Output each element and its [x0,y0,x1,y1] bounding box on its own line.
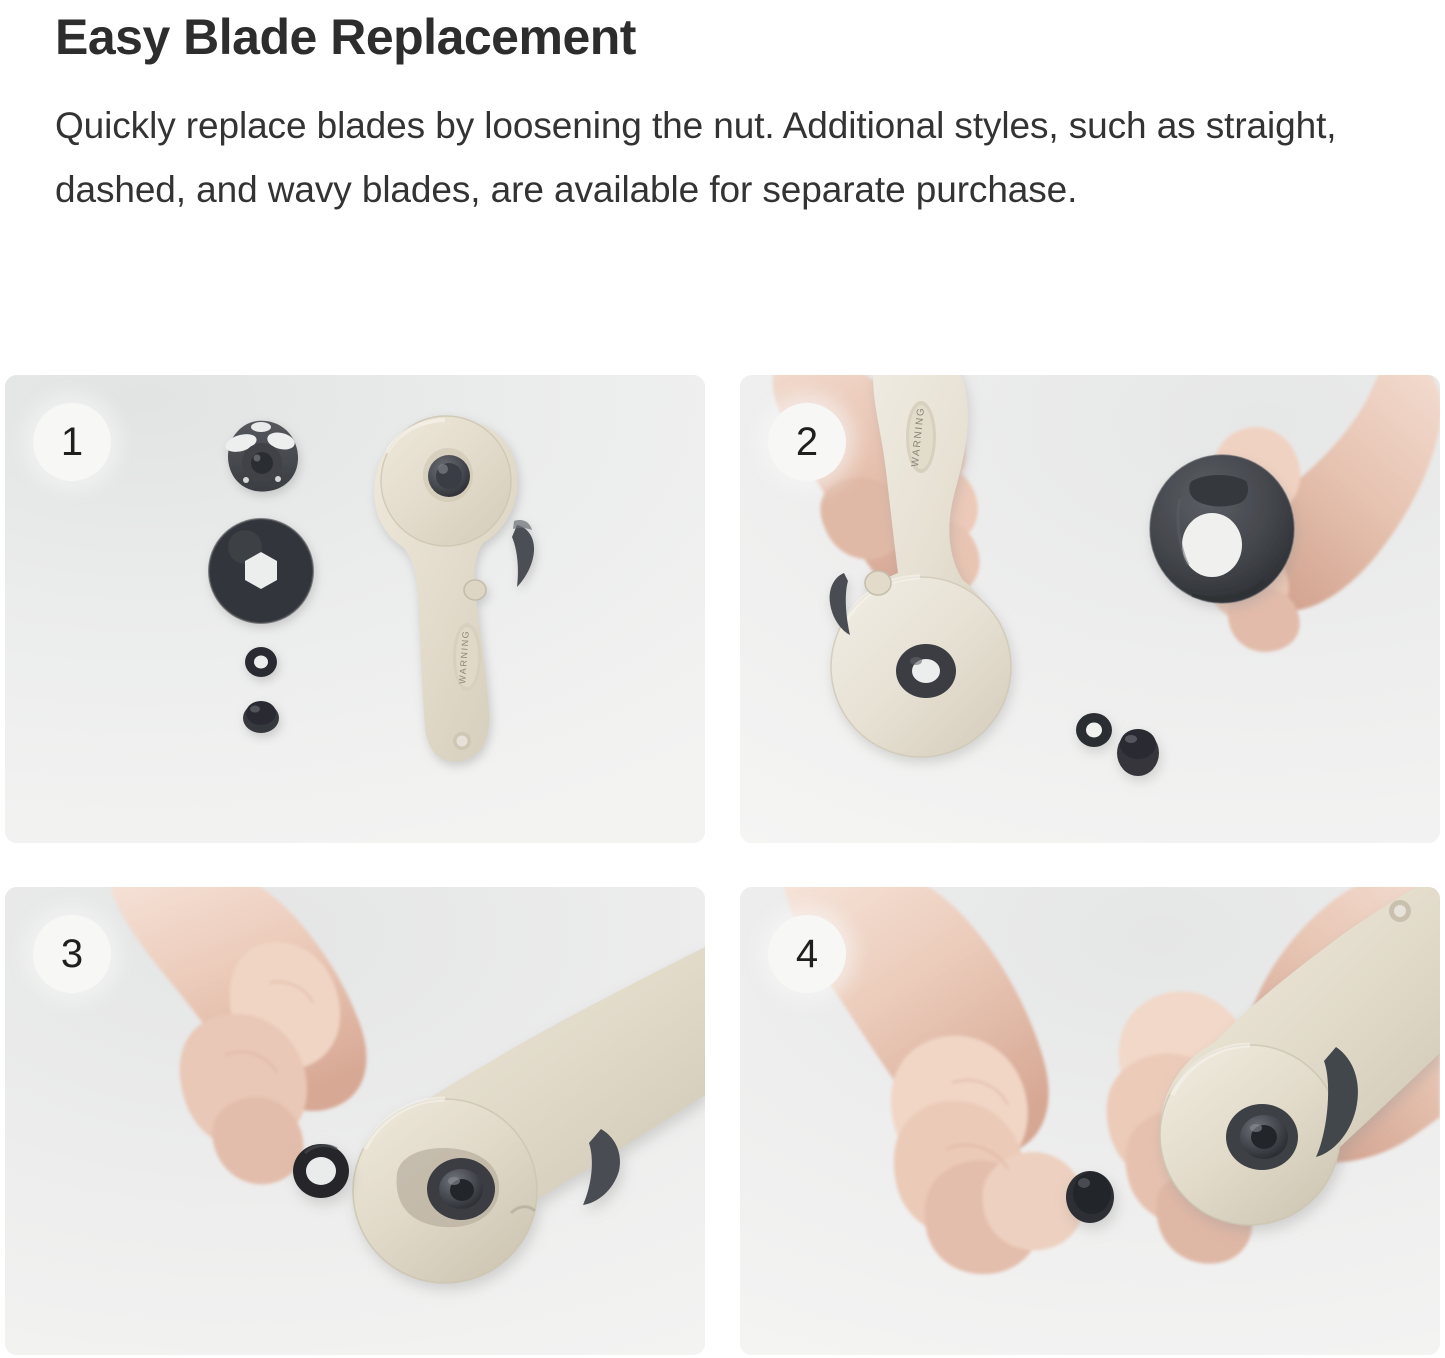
step-panel-2: WARNING [740,375,1440,843]
text-block: Easy Blade Replacement Quickly replace b… [55,0,1375,222]
product-infographic: Easy Blade Replacement Quickly replace b… [0,0,1445,1358]
rotary-blade-disc-icon [209,519,313,623]
rotary-cutter-body-icon: WARNING [374,416,534,762]
blade-cover-plate-icon [1150,455,1294,603]
page-description: Quickly replace blades by loosening the … [55,94,1355,222]
blade-cover-plate-icon [223,421,298,492]
rotary-cutter-body-icon [353,947,705,1283]
step-badge-2: 2 [768,403,846,481]
locking-nut-icon [1117,729,1159,776]
step-badge-1: 1 [33,403,111,481]
step-panel-3: 3 [5,887,705,1355]
step-badge-3: 3 [33,915,111,993]
step-panel-4: 4 [740,887,1440,1355]
washer-ring-icon [245,647,277,677]
locking-nut-icon [243,701,279,733]
washer-ring-icon [1076,713,1112,747]
step-panel-1: WARNING 1 [5,375,705,843]
locking-nut-icon [1066,1171,1114,1223]
page-title: Easy Blade Replacement [55,0,1375,68]
left-hand [109,887,367,1184]
step-panel-grid: WARNING 1 [5,375,1440,1355]
washer-ring-icon [293,1144,349,1198]
step-badge-4: 4 [768,915,846,993]
